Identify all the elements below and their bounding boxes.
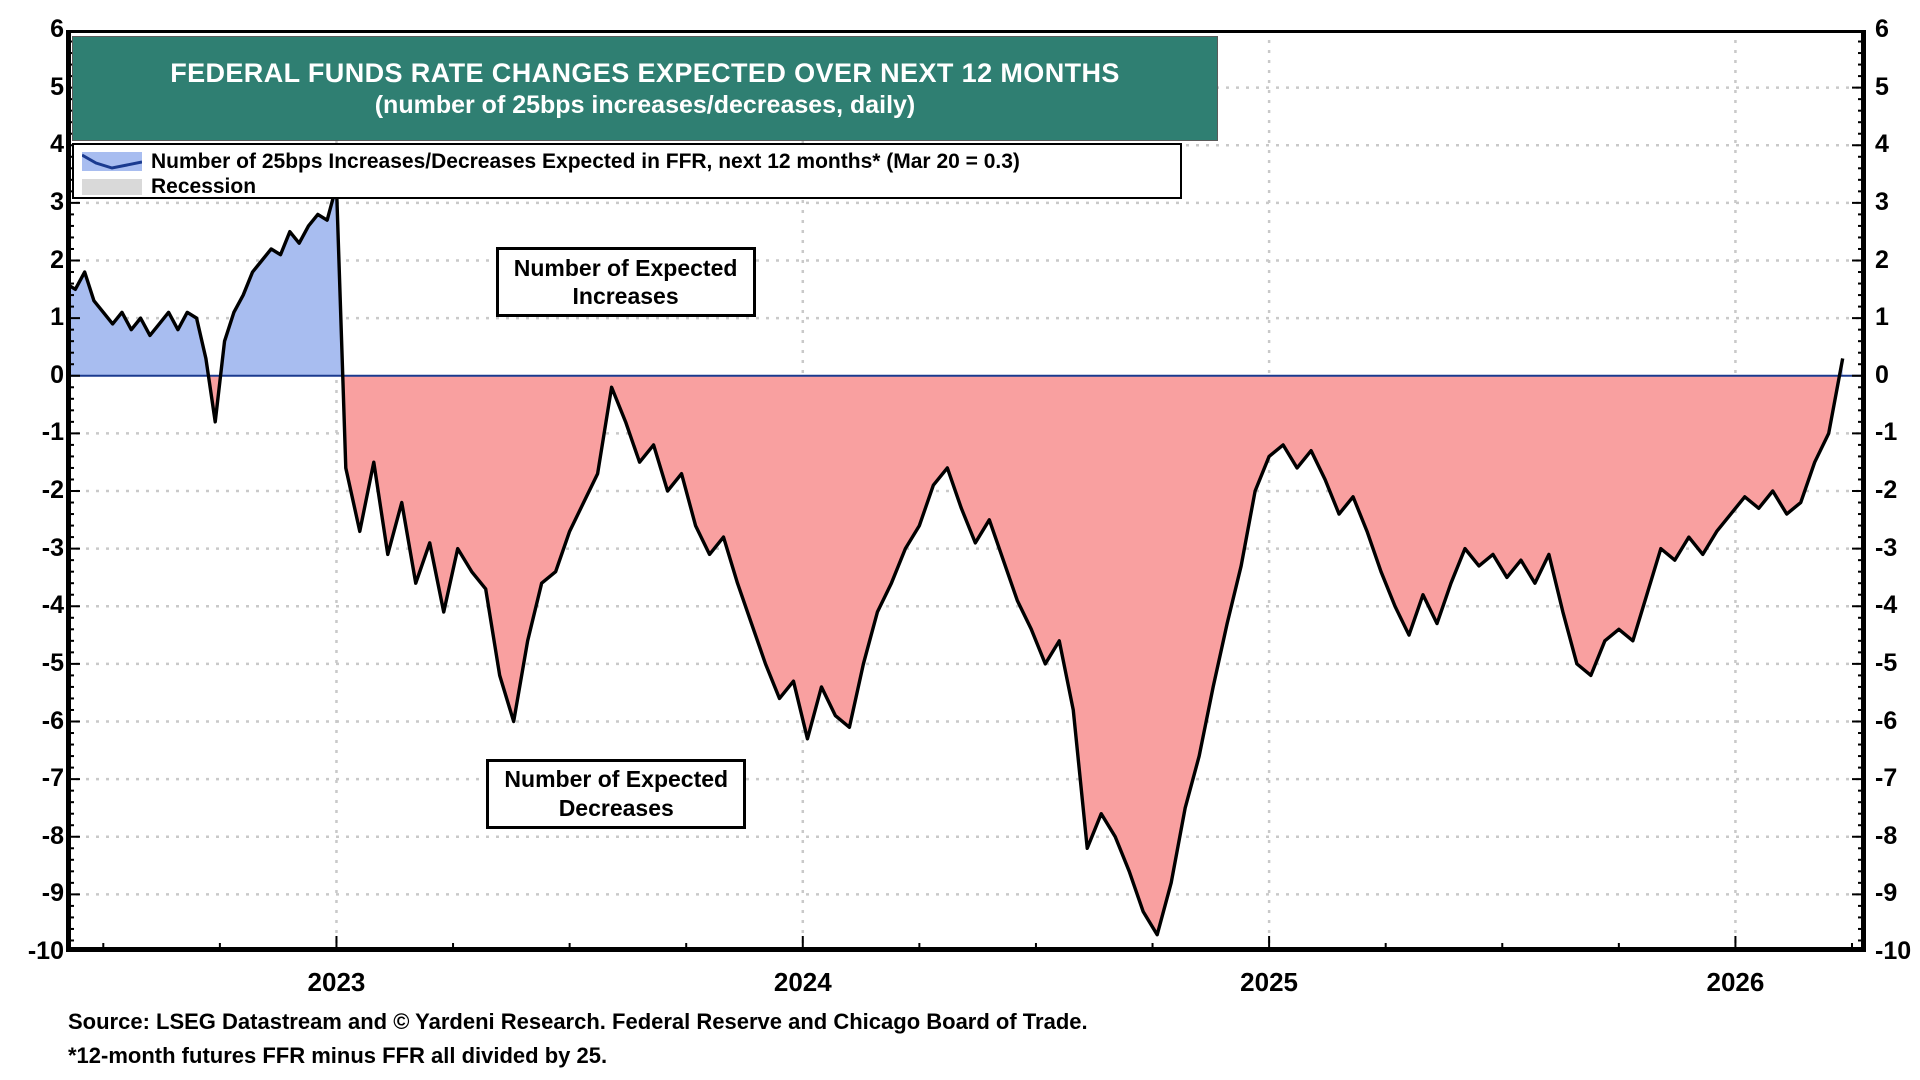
y-tick-label: -2: [1875, 478, 1897, 503]
y-tick-label: 2: [50, 248, 64, 273]
footnotes: Source: LSEG Datastream and © Yardeni Re…: [68, 1005, 1088, 1073]
increases-callout: Number of Expected Increases: [496, 247, 756, 317]
legend-label-recession: Recession: [151, 175, 256, 199]
y-tick-label: -3: [42, 536, 64, 561]
y-tick-label: -1: [1875, 420, 1897, 445]
y-tick-label: -10: [28, 939, 64, 964]
x-tick-label: 2024: [774, 967, 832, 998]
y-tick-label: 6: [1875, 17, 1889, 42]
chart-title: FEDERAL FUNDS RATE CHANGES EXPECTED OVER…: [170, 58, 1120, 89]
increases-callout-line2: Increases: [573, 282, 679, 310]
legend-label-series: Number of 25bps Increases/Decreases Expe…: [151, 150, 1020, 174]
method-footnote: *12-month futures FFR minus FFR all divi…: [68, 1039, 1088, 1073]
y-tick-label: 3: [50, 190, 64, 215]
y-tick-label: -8: [42, 824, 64, 849]
y-tick-label: -2: [42, 478, 64, 503]
y-tick-label: 1: [50, 305, 64, 330]
chart-subtitle: (number of 25bps increases/decreases, da…: [375, 91, 916, 120]
source-note: Source: LSEG Datastream and © Yardeni Re…: [68, 1005, 1088, 1039]
y-tick-label: -6: [1875, 709, 1897, 734]
y-tick-label: 0: [1875, 363, 1889, 388]
x-tick-label: 2023: [308, 967, 366, 998]
y-tick-label: -5: [42, 651, 64, 676]
x-tick-label: 2025: [1240, 967, 1298, 998]
y-tick-label: 0: [50, 363, 64, 388]
y-tick-label: -3: [1875, 536, 1897, 561]
y-tick-label: -9: [1875, 881, 1897, 906]
y-tick-label: -9: [42, 881, 64, 906]
y-tick-label: -4: [42, 593, 64, 618]
y-tick-label: -8: [1875, 824, 1897, 849]
y-tick-label: 3: [1875, 190, 1889, 215]
legend-item-series: Number of 25bps Increases/Decreases Expe…: [82, 149, 1172, 174]
y-tick-label: -5: [1875, 651, 1897, 676]
y-tick-label: 6: [50, 17, 64, 42]
chart-title-banner: FEDERAL FUNDS RATE CHANGES EXPECTED OVER…: [72, 36, 1218, 141]
legend-item-recession: Recession: [82, 174, 1172, 199]
x-tick-label: 2026: [1707, 967, 1765, 998]
decreases-callout-line2: Decreases: [559, 794, 674, 822]
series-swatch-icon: [82, 152, 142, 171]
y-tick-label: 4: [1875, 132, 1889, 157]
line-sample-icon: [82, 152, 142, 171]
y-tick-label: 1: [1875, 305, 1889, 330]
y-tick-label: -7: [1875, 766, 1897, 791]
chart-legend: Number of 25bps Increases/Decreases Expe…: [72, 143, 1182, 199]
increases-callout-line1: Number of Expected: [514, 254, 738, 282]
y-tick-label: 4: [50, 132, 64, 157]
y-tick-label: -7: [42, 766, 64, 791]
y-tick-label: 5: [1875, 75, 1889, 100]
decreases-callout-line1: Number of Expected: [504, 765, 728, 793]
y-tick-label: -10: [1875, 939, 1911, 964]
y-tick-label: -4: [1875, 593, 1897, 618]
recession-swatch-icon: [82, 179, 142, 195]
y-tick-label: 2: [1875, 248, 1889, 273]
y-tick-label: -6: [42, 709, 64, 734]
decreases-callout: Number of Expected Decreases: [486, 759, 746, 829]
chart-page: 6543210-1-2-3-4-5-6-7-8-9-10 6543210-1-2…: [0, 0, 1920, 1080]
y-tick-label: -1: [42, 420, 64, 445]
y-tick-label: 5: [50, 75, 64, 100]
